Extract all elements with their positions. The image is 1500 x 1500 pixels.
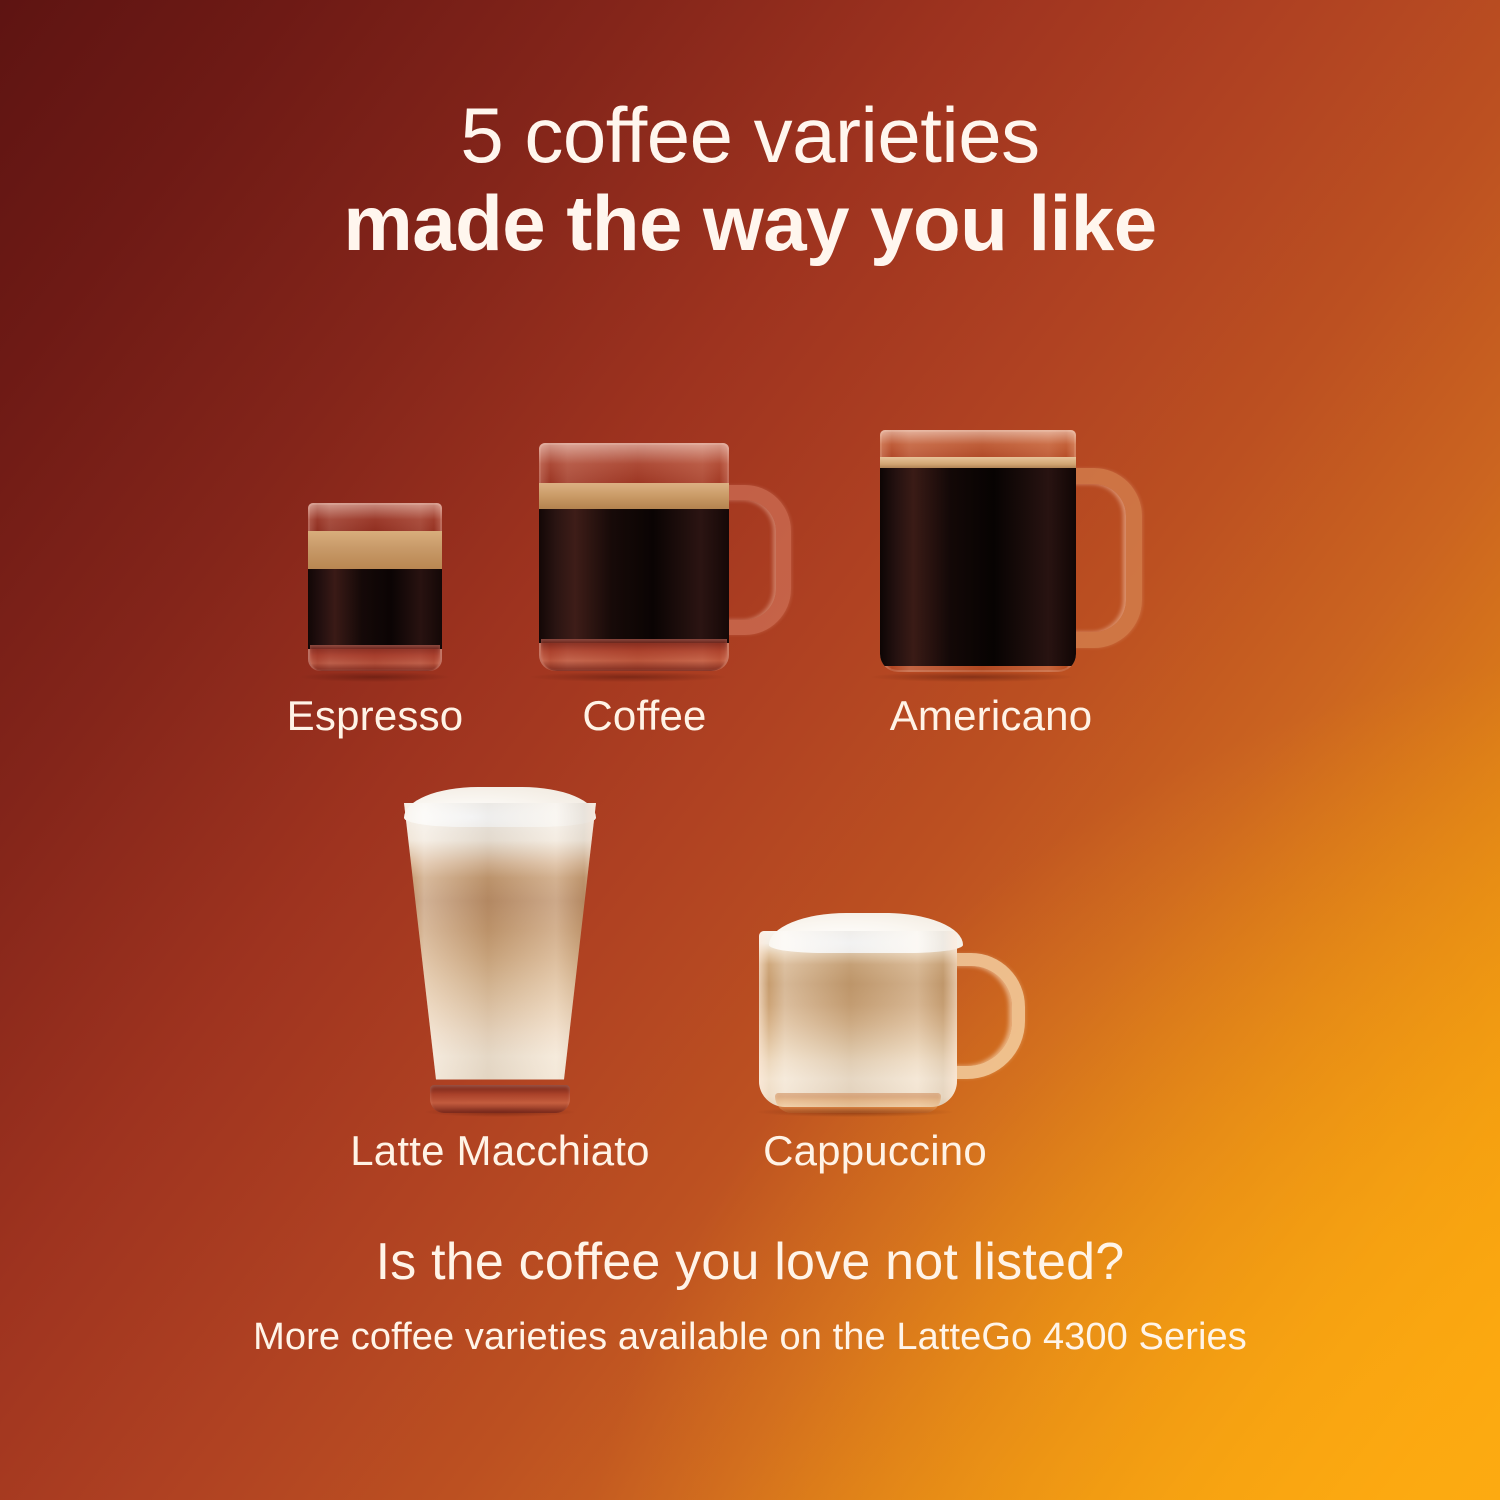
footer-question: Is the coffee you love not listed? <box>0 1232 1500 1292</box>
variety-item-cappuccino[interactable]: Cappuccino <box>700 913 1100 1175</box>
variety-row-1: Espresso Coffee <box>250 395 1250 740</box>
latte-foam-cap <box>404 787 596 827</box>
coffee-crema-layer <box>539 483 729 511</box>
variety-label-latte-macchiato: Latte Macchiato <box>350 1127 650 1175</box>
variety-label-cappuccino: Cappuccino <box>763 1127 987 1175</box>
cappuccino-cup-base <box>775 1093 941 1113</box>
cappuccino-cup-icon <box>753 913 1025 1113</box>
variety-label-americano: Americano <box>890 692 1093 740</box>
coffee-varieties-poster: 5 coffee varieties made the way you like… <box>0 0 1500 1500</box>
americano-coffee-layer <box>880 468 1076 666</box>
espresso-glass-rim <box>308 503 442 533</box>
coffee-liquid-layer <box>539 509 729 643</box>
espresso-crema-layer <box>308 531 442 571</box>
vessel-shadow <box>300 672 450 682</box>
americano-mug-icon <box>870 430 1142 678</box>
coffee-mug-body <box>539 443 729 671</box>
footer-block: Is the coffee you love not listed? More … <box>0 1232 1500 1359</box>
coffee-mug-icon <box>529 443 791 678</box>
headline-line-1: 5 coffee varieties <box>0 96 1500 174</box>
variety-item-latte-macchiato[interactable]: Latte Macchiato <box>300 803 700 1175</box>
variety-item-americano[interactable]: Americano <box>845 430 1175 740</box>
variety-label-espresso: Espresso <box>287 692 464 740</box>
variety-item-espresso[interactable]: Espresso <box>250 503 500 740</box>
americano-mug-rim <box>880 430 1076 460</box>
variety-item-coffee[interactable]: Coffee <box>500 443 845 740</box>
footer-note: More coffee varieties available on the L… <box>0 1316 1500 1359</box>
latte-macchiato-glass-icon <box>400 803 600 1113</box>
espresso-glass-icon <box>300 503 450 678</box>
espresso-glass-base <box>310 645 440 671</box>
variety-label-coffee: Coffee <box>582 692 706 740</box>
espresso-glass-body <box>308 503 442 671</box>
variety-row-2: Latte Macchiato Cappuccino <box>300 760 1100 1175</box>
vessel-shadow <box>871 672 1073 682</box>
cappuccino-cup-body <box>759 931 957 1107</box>
page-title: 5 coffee varieties made the way you like <box>0 96 1500 262</box>
coffee-mug-rim <box>539 443 729 485</box>
vessel-shadow <box>530 672 726 682</box>
cappuccino-foam-cap <box>769 913 963 953</box>
americano-mug-body <box>880 430 1076 672</box>
coffee-mug-base <box>541 639 727 671</box>
espresso-coffee-layer <box>308 569 442 649</box>
latte-glass-base <box>430 1085 570 1113</box>
latte-glass-body <box>400 803 600 1091</box>
headline-line-2: made the way you like <box>0 184 1500 262</box>
